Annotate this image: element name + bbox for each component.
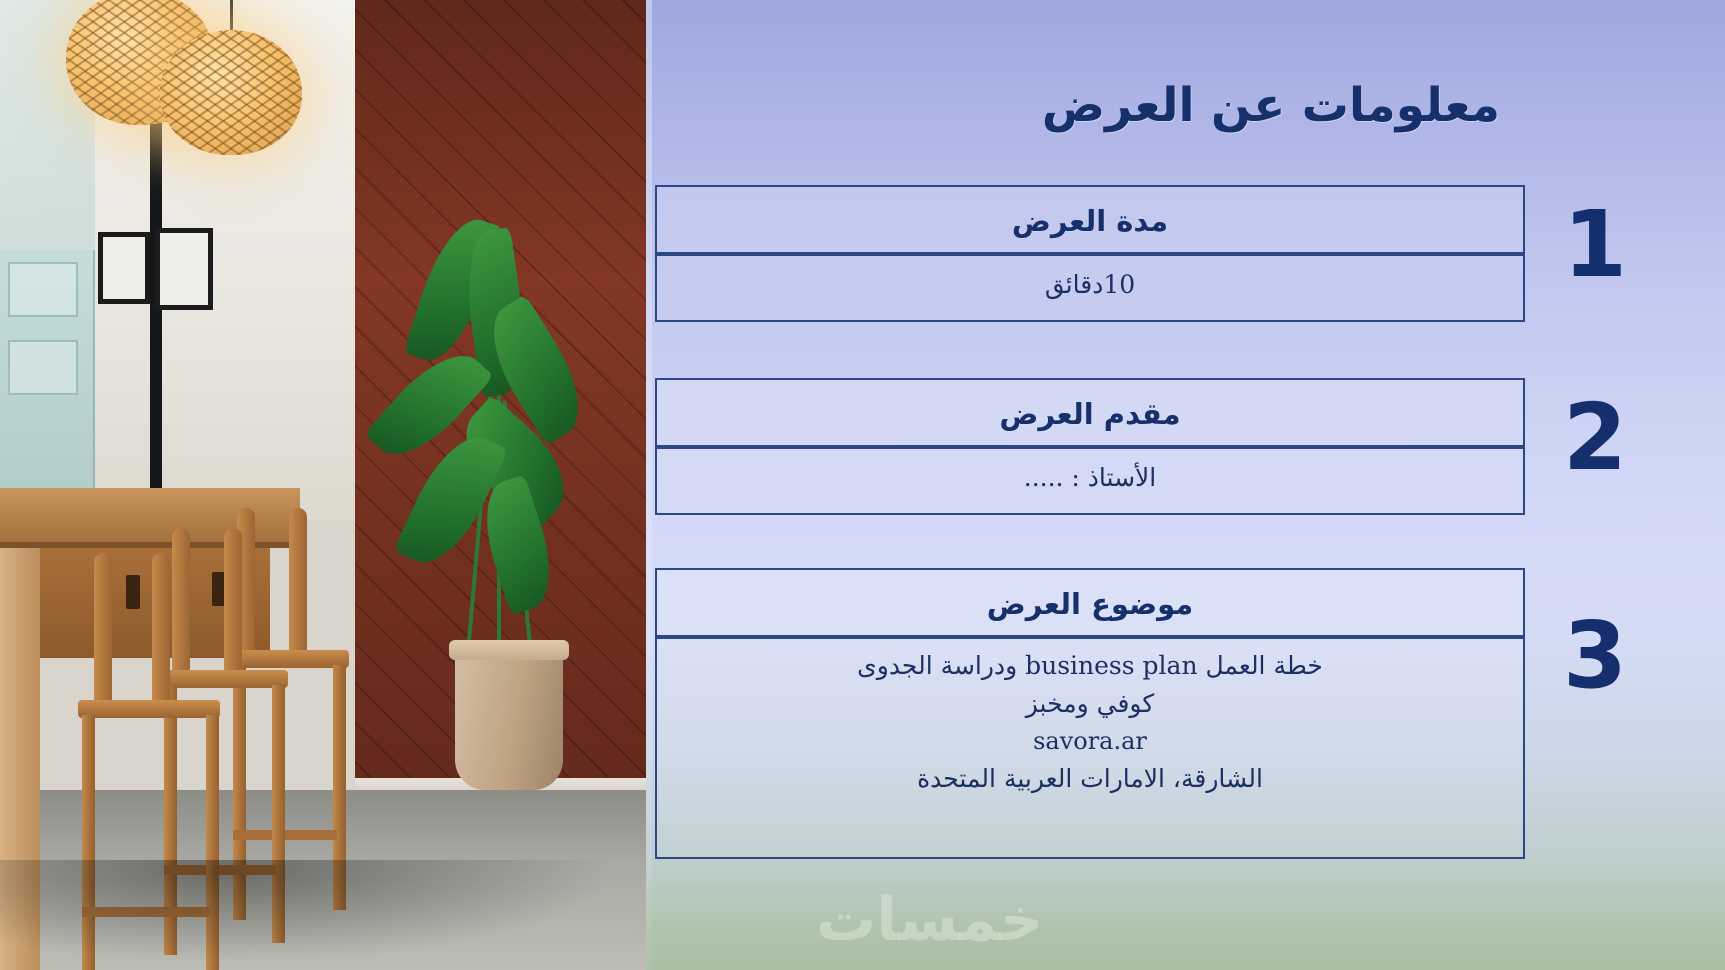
photo-counter-top [0, 488, 300, 548]
section-number-2: 2 [1525, 378, 1665, 481]
info-card-topic: موضوع العرض خطة العمل business plan ودرا… [655, 568, 1525, 859]
info-row-3: 3 موضوع العرض خطة العمل business plan ود… [655, 568, 1665, 859]
slide-title: معلومات عن العرض [1042, 78, 1500, 133]
presentation-slide: معلومات عن العرض 1 مدة العرض 10دقائق 2 م… [0, 0, 1725, 970]
photo-wall-frame-2 [155, 228, 213, 310]
photo-floor-shadow [0, 860, 646, 970]
info-card-body: خطة العمل business plan ودراسة الجدوى كو… [657, 637, 1523, 857]
cafe-interior-photo [0, 0, 646, 970]
info-card-presenter: مقدم العرض الأستاذ : ..... [655, 378, 1525, 515]
photo-wall-frame-1 [98, 232, 150, 304]
section-number-1: 1 [1525, 185, 1665, 288]
slide-content-panel: معلومات عن العرض 1 مدة العرض 10دقائق 2 م… [646, 0, 1725, 970]
photo-rattan-lamp-2 [160, 30, 302, 155]
info-card-heading: موضوع العرض [657, 570, 1523, 637]
info-card-line: كوفي ومخبز [671, 685, 1509, 723]
photo-counter-slot [126, 575, 140, 609]
info-card-line: الأستاذ : ..... [671, 459, 1509, 497]
section-number-3: 3 [1525, 568, 1665, 699]
panel-edge-highlight [646, 0, 652, 970]
info-card-body: 10دقائق [657, 254, 1523, 320]
info-card-heading: مقدم العرض [657, 380, 1523, 447]
photo-dark-pillar [150, 110, 162, 530]
photo-lamp-cord-2 [230, 0, 233, 32]
info-card-line: الشارقة، الامارات العربية المتحدة [671, 760, 1509, 798]
info-card-line: خطة العمل business plan ودراسة الجدوى [671, 647, 1509, 685]
info-card-heading: مدة العرض [657, 187, 1523, 254]
photo-plant-pot [455, 640, 563, 790]
watermark: خمسات [816, 885, 1043, 955]
info-card-duration: مدة العرض 10دقائق [655, 185, 1525, 322]
info-card-line: savora.ar [671, 723, 1509, 760]
info-card-line: 10دقائق [671, 266, 1509, 304]
info-card-body: الأستاذ : ..... [657, 447, 1523, 513]
photo-glass-pane-upper [8, 262, 78, 317]
info-row-2: 2 مقدم العرض الأستاذ : ..... [655, 378, 1665, 515]
info-row-1: 1 مدة العرض 10دقائق [655, 185, 1665, 322]
photo-glass-pane-lower [8, 340, 78, 395]
